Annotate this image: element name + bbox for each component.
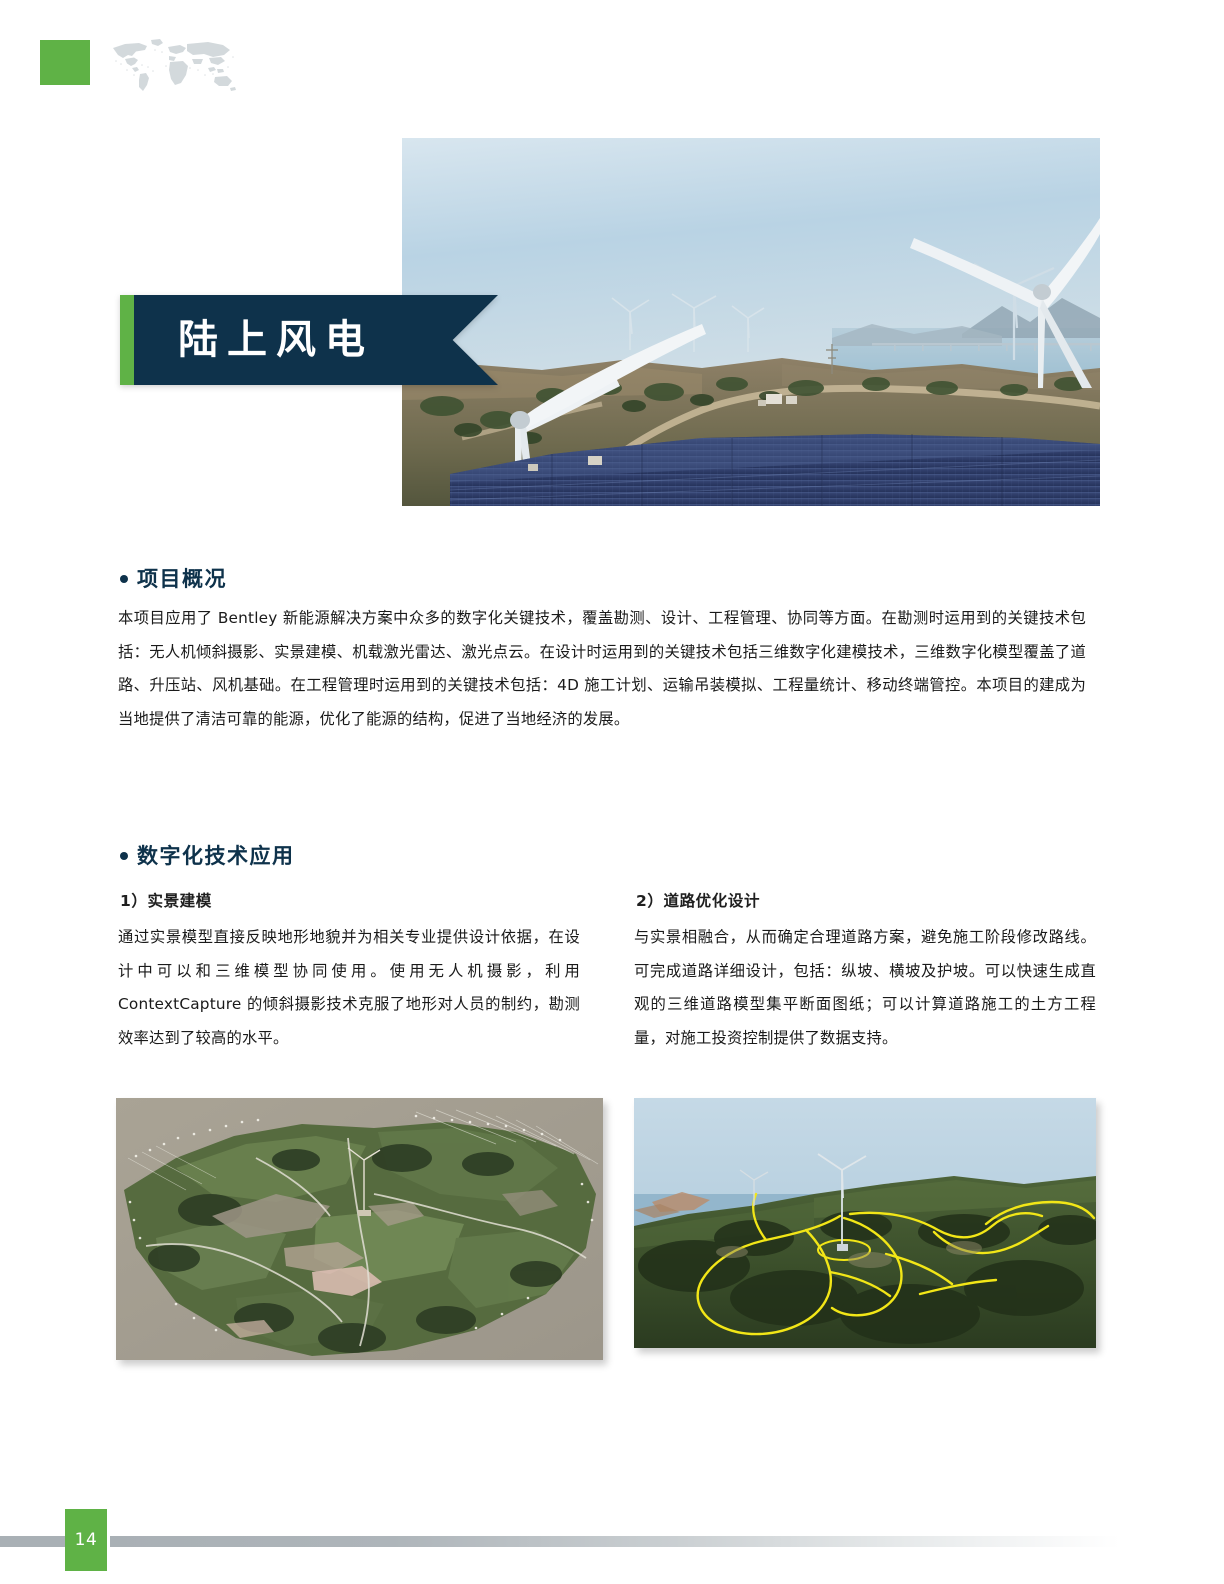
bullet-dot-icon xyxy=(120,852,128,860)
world-map-icon xyxy=(110,35,238,95)
reality-modeling-paragraph: 通过实景模型直接反映地形地貌并为相关专业提供设计依据，在设计中可以和三维模型协同… xyxy=(118,921,580,1055)
footer-rule-right xyxy=(110,1536,1120,1547)
banner-accent-bar xyxy=(120,295,134,385)
bullet-dot-icon xyxy=(120,575,128,583)
hero-image-onshore-wind-farm xyxy=(402,138,1100,506)
section-heading-overview-label: 项目概况 xyxy=(137,563,227,593)
section-heading-overview: 项目概况 xyxy=(120,563,227,593)
page-title-banner: 陆上风电 xyxy=(120,295,498,385)
road-alignment-design-overlay-image xyxy=(634,1098,1096,1348)
section-heading-digital-technology: 数字化技术应用 xyxy=(120,840,295,870)
subsection-heading-road-optimization: 2）道路优化设计 xyxy=(636,889,760,911)
road-optimization-paragraph: 与实景相融合，从而确定合理道路方案，避免施工阶段修改路线。可完成道路详细设计，包… xyxy=(634,921,1096,1055)
reality-mesh-terrain-model-image xyxy=(116,1098,603,1360)
header-green-block xyxy=(40,40,90,85)
brochure-page: 陆上风电 项目概况 本项目应用了 Bentley 新能源解决方案中众多的数字化关… xyxy=(0,0,1224,1584)
overview-paragraph: 本项目应用了 Bentley 新能源解决方案中众多的数字化关键技术，覆盖勘测、设… xyxy=(118,602,1086,736)
subsection-heading-reality-modeling: 1）实景建模 xyxy=(120,889,212,911)
page-number-badge: 14 xyxy=(65,1509,107,1571)
page-title: 陆上风电 xyxy=(178,320,374,360)
footer-rule-left xyxy=(0,1536,72,1547)
section-heading-digital-technology-label: 数字化技术应用 xyxy=(137,840,295,870)
